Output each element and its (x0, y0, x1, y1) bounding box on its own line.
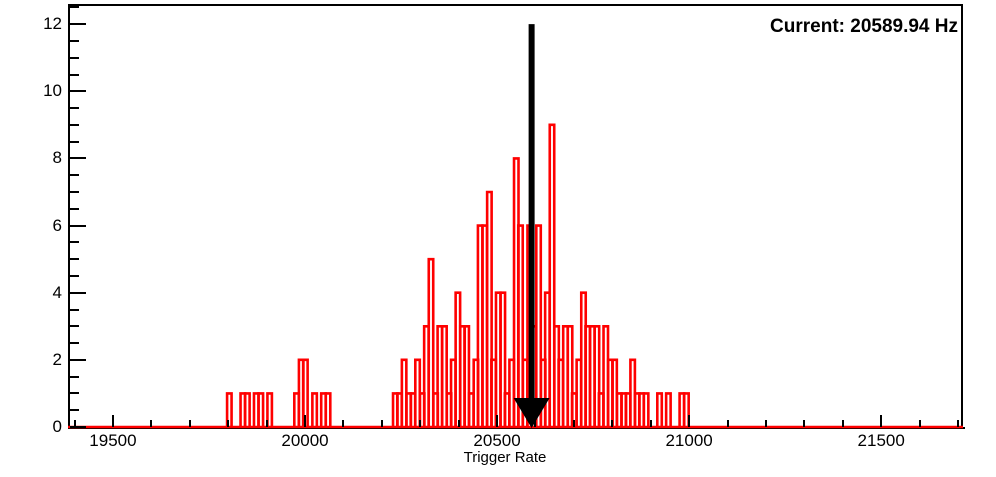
histogram-bin (657, 393, 661, 427)
y-tick-minor (70, 409, 79, 411)
y-tick-label: 8 (53, 149, 62, 166)
y-tick-major (70, 157, 86, 159)
x-tick-minor (227, 420, 229, 427)
x-tick-minor (919, 420, 921, 427)
y-tick-label: 10 (43, 82, 62, 99)
y-tick-minor (70, 6, 79, 8)
y-tick-label: 12 (43, 15, 62, 32)
histogram-bin (312, 393, 316, 427)
y-tick-minor (70, 191, 79, 193)
x-tick-major (496, 415, 498, 427)
x-tick-major (880, 415, 882, 427)
y-tick-label: 2 (53, 351, 62, 368)
x-tick-minor (650, 420, 652, 427)
x-tick-minor (611, 420, 613, 427)
x-tick-minor (189, 420, 191, 427)
x-tick-label: 20000 (281, 432, 328, 450)
y-tick-minor (70, 40, 79, 42)
y-tick-major (70, 359, 86, 361)
x-tick-minor (150, 420, 152, 427)
y-tick-major (70, 90, 86, 92)
x-tick-minor (765, 420, 767, 427)
x-tick-minor (727, 420, 729, 427)
histogram-page: 024681012 1950020000205002100021500 Trig… (0, 0, 996, 472)
x-tick-minor (381, 420, 383, 427)
y-axis-labels: 024681012 (0, 0, 62, 472)
y-tick-minor (70, 325, 79, 327)
x-tick-minor (419, 420, 421, 427)
x-tick-minor (342, 420, 344, 427)
y-tick-label: 6 (53, 217, 62, 234)
x-tick-minor (74, 420, 76, 427)
x-tick-minor (573, 420, 575, 427)
x-tick-minor (266, 420, 268, 427)
histogram-plot (68, 4, 963, 429)
x-tick-minor (957, 420, 959, 427)
x-tick-label: 21500 (858, 432, 905, 450)
y-tick-minor (70, 141, 79, 143)
y-tick-minor (70, 392, 79, 394)
y-tick-label: 0 (53, 418, 62, 435)
histogram-bin (259, 393, 263, 427)
x-tick-minor (458, 420, 460, 427)
y-tick-minor (70, 57, 79, 59)
y-tick-major (70, 292, 86, 294)
x-tick-major (112, 415, 114, 427)
y-tick-major (70, 426, 86, 428)
y-tick-label: 4 (53, 284, 62, 301)
histogram-bin (267, 393, 271, 427)
histogram-bin (245, 393, 249, 427)
x-tick-label: 20500 (473, 432, 520, 450)
y-tick-minor (70, 309, 79, 311)
y-tick-minor (70, 241, 79, 243)
histogram-bars (68, 4, 965, 429)
x-tick-label: 21000 (665, 432, 712, 450)
histogram-bin (644, 393, 648, 427)
y-tick-major (70, 23, 86, 25)
current-rate-readout: Current: 20589.94 Hz (770, 16, 958, 38)
y-tick-minor (70, 174, 79, 176)
y-tick-minor (70, 74, 79, 76)
x-tick-major (304, 415, 306, 427)
y-tick-minor (70, 342, 79, 344)
x-tick-major (688, 415, 690, 427)
x-axis-title: Trigger Rate (464, 450, 547, 466)
histogram-bin (326, 393, 330, 427)
y-tick-minor (70, 124, 79, 126)
x-tick-minor (803, 420, 805, 427)
y-tick-minor (70, 208, 79, 210)
y-tick-major (70, 225, 86, 227)
y-tick-minor (70, 275, 79, 277)
x-tick-minor (842, 420, 844, 427)
y-tick-minor (70, 376, 79, 378)
y-tick-minor (70, 107, 79, 109)
x-tick-minor (534, 420, 536, 427)
y-tick-minor (70, 258, 79, 260)
histogram-bin (666, 393, 670, 427)
x-tick-label: 19500 (89, 432, 136, 450)
